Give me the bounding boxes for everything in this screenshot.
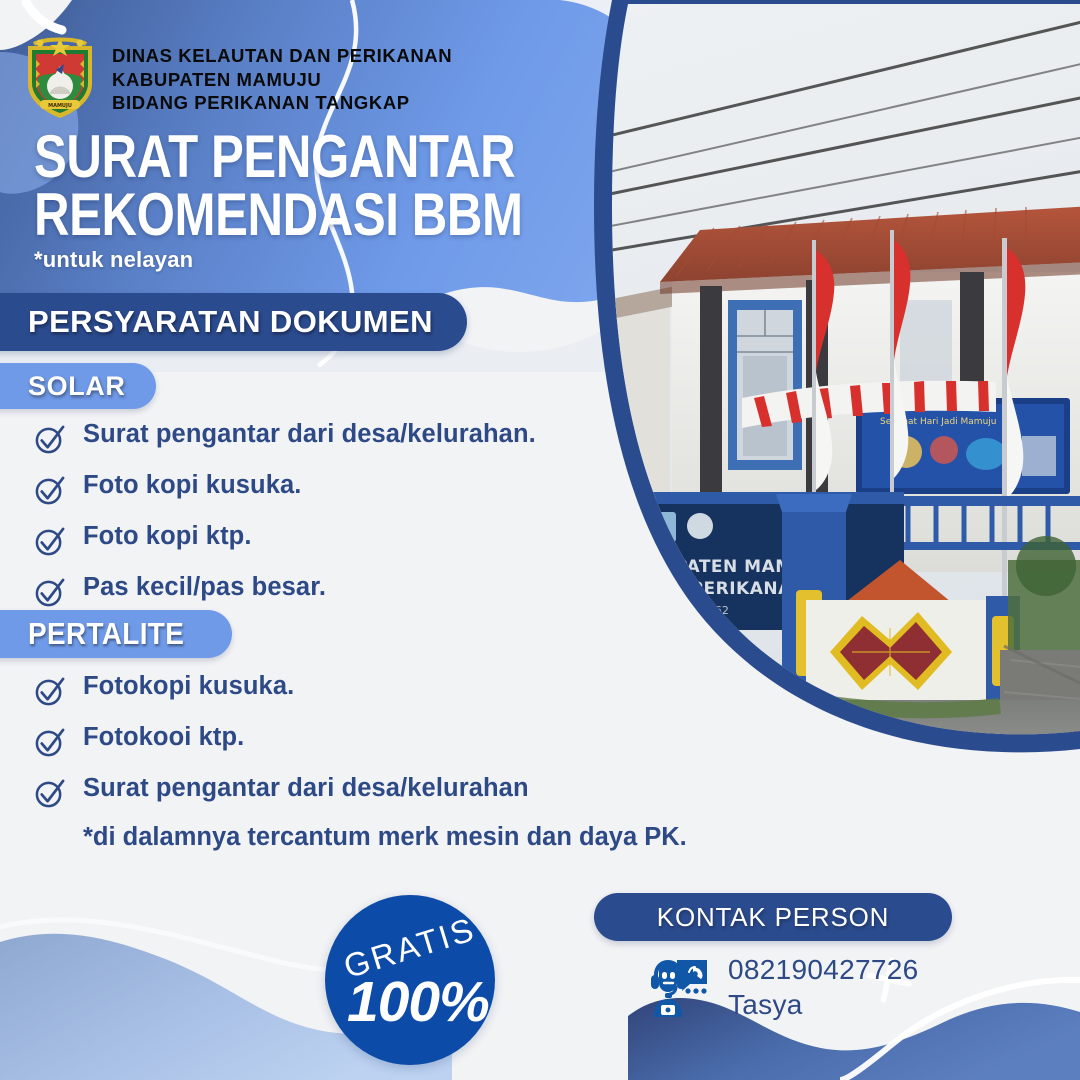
contact-name: Tasya: [728, 987, 918, 1022]
mamuju-regency-crest-icon: MAMUJU: [22, 36, 98, 120]
contact-row: 082190427726 Tasya: [646, 952, 918, 1022]
check-circle-icon: [34, 778, 65, 809]
contact-phone[interactable]: 082190427726: [728, 952, 918, 987]
list-item: Surat pengantar dari desa/kelurahan.: [34, 420, 536, 455]
list-item: Foto kopi ktp.: [34, 522, 536, 557]
requirements-banner-label: PERSYARATAN DOKUMEN: [28, 304, 433, 340]
sign-line-2: N DAN PERIKANAN: [620, 579, 807, 599]
poster-subtitle: *untuk nelayan: [34, 247, 630, 273]
org-line-2: KABUPATEN MAMUJU: [112, 68, 452, 92]
list-item-label: Fotokooi ktp.: [83, 723, 244, 752]
sign-line-4: SI BARAT: [652, 621, 707, 635]
gratis-badge-line-2: 100%: [347, 969, 489, 1035]
contact-heading-pill: KONTAK PERSON: [594, 893, 952, 941]
list-item-label: Foto kopi kusuka.: [83, 471, 301, 500]
poster-title-line-1: SURAT PENGANTAR: [34, 128, 523, 186]
org-identity-row: MAMUJU DINAS KELAUTAN DAN PERIKANAN KABU…: [22, 36, 452, 120]
check-circle-icon: [34, 526, 65, 557]
requirements-list-pertalite: Fotokopi kusuka. Fotokooi ktp. Surat pen…: [34, 672, 687, 852]
section-label-solar: SOLAR: [0, 363, 156, 409]
check-circle-icon: [34, 475, 65, 506]
check-circle-icon: [34, 577, 65, 608]
contact-heading-label: KONTAK PERSON: [657, 902, 889, 933]
poster-title-line-2: REKOMENDASI BBM: [34, 186, 523, 244]
requirements-list-solar: Surat pengantar dari desa/kelurahan. Fot…: [34, 420, 536, 624]
requirements-banner: PERSYARATAN DOKUMEN: [0, 293, 467, 351]
poster-canvas: Selamat Hari Jadi Mamuju: [0, 0, 1080, 1080]
gratis-badge: GRATIS 100%: [325, 895, 495, 1065]
check-circle-icon: [34, 676, 65, 707]
org-line-1: DINAS KELAUTAN DAN PERIKANAN: [112, 44, 452, 68]
requirements-note: *di dalamnya tercantum merk mesin dan da…: [83, 823, 687, 852]
list-item: Pas kecil/pas besar.: [34, 573, 536, 608]
contact-lines: 082190427726 Tasya: [728, 952, 918, 1022]
list-item-label: Surat pengantar dari desa/kelurahan: [83, 774, 529, 803]
list-item: Fotokooi ktp.: [34, 723, 687, 758]
list-item: Foto kopi kusuka.: [34, 471, 536, 506]
section-label-solar-text: SOLAR: [28, 371, 126, 402]
list-item: Surat pengantar dari desa/kelurahan: [34, 774, 687, 809]
title-wrap: SURAT PENGANTAR REKOMENDASI BBM *untuk n…: [34, 128, 630, 273]
org-lines: DINAS KELAUTAN DAN PERIKANAN KABUPATEN M…: [112, 36, 452, 115]
list-item-label: Fotokopi kusuka.: [83, 672, 294, 701]
header-block: MAMUJU DINAS KELAUTAN DAN PERIKANAN KABU…: [0, 0, 700, 330]
list-item-label: Pas kecil/pas besar.: [83, 573, 326, 602]
check-circle-icon: [34, 727, 65, 758]
list-item-label: Surat pengantar dari desa/kelurahan.: [83, 420, 536, 449]
customer-service-icon: [646, 955, 710, 1019]
org-line-3: BIDANG PERIKANAN TANGKAP: [112, 91, 452, 115]
list-item: Fotokopi kusuka.: [34, 672, 687, 707]
svg-text:MAMUJU: MAMUJU: [48, 103, 72, 109]
list-item-label: Foto kopi ktp.: [83, 522, 252, 551]
check-circle-icon: [34, 424, 65, 455]
